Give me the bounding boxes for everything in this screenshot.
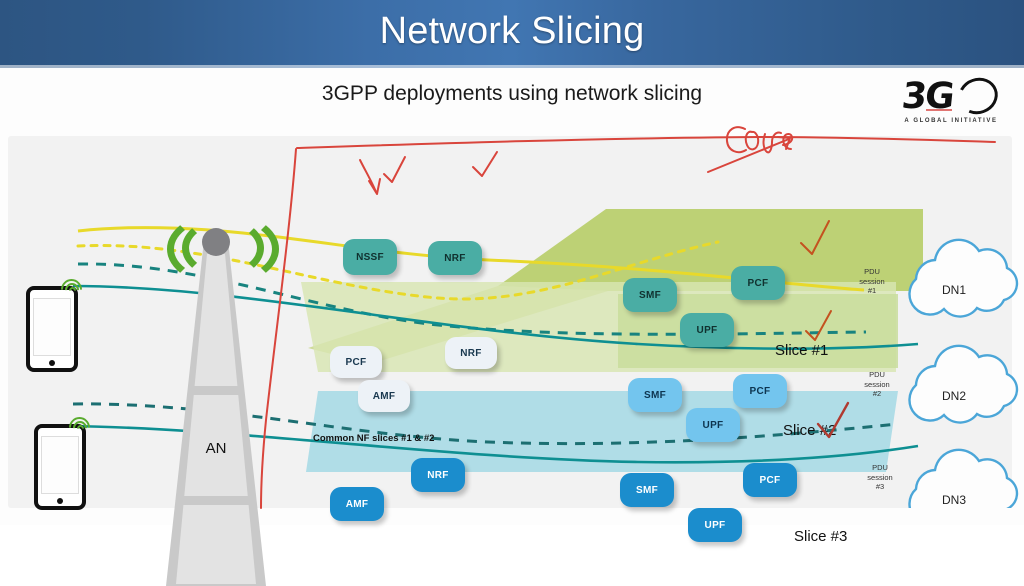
node-upf-slice3[interactable]: UPF (688, 508, 742, 542)
node-upf-slice1-label: UPF (697, 325, 718, 336)
pdu-session-2-line2: session (853, 380, 901, 390)
slide-root: Network Slicing 3GPP deployments using n… (0, 0, 1024, 525)
node-amf-common-label: AMF (373, 391, 396, 402)
dn3-label: DN3 (906, 474, 1002, 526)
slide-title-bar: Network Slicing (0, 0, 1024, 68)
node-upf-slice3-label: UPF (705, 520, 726, 531)
node-smf-slice3[interactable]: SMF (620, 473, 674, 507)
node-pcf-slice1[interactable]: PCF (731, 266, 785, 300)
page-title: Network Slicing (0, 0, 1024, 62)
tower-band-upper (192, 386, 240, 395)
logo-swoosh-icon (953, 72, 1003, 120)
tower-inner (166, 254, 266, 584)
dn2-cloud: DN2 (906, 370, 1002, 422)
phone-2-screen (41, 436, 79, 494)
node-upf-slice2-label: UPF (703, 420, 724, 431)
node-nrf-slice3-label: NRF (427, 470, 448, 481)
slide-body: 3GPP deployments using network slicing 3… (0, 68, 1024, 525)
node-pcf-common[interactable]: PCF (330, 346, 382, 378)
pdu-session-3-label: PDU session #3 (856, 463, 904, 492)
pdu-session-1-line3: #1 (848, 286, 896, 296)
dn1-label: DN1 (906, 264, 1002, 316)
slice1-label: Slice #1 (775, 342, 828, 359)
node-amf-slice3-label: AMF (346, 499, 369, 510)
connection-lines-layer (8, 136, 1024, 508)
slide-subtitle: 3GPP deployments using network slicing (0, 82, 1024, 106)
phone-1-signal-icon (60, 276, 82, 296)
logo-tagline: A GLOBAL INITIATIVE (896, 118, 1006, 124)
node-nrf-slice3[interactable]: NRF (411, 458, 465, 492)
dn1-cloud: DN1 (906, 264, 1002, 316)
common-nf-label: Common NF slices #1 & #2 (313, 433, 434, 444)
node-nssf-label: NSSF (356, 252, 384, 263)
node-smf-slice2-label: SMF (644, 390, 666, 401)
node-pcf-common-label: PCF (346, 357, 367, 368)
slice-planes-layer (8, 136, 1024, 508)
node-pcf-slice3[interactable]: PCF (743, 463, 797, 497)
node-nrf-common[interactable]: NRF (445, 337, 497, 369)
pdu-session-2-label: PDU session #2 (853, 370, 901, 399)
pdu-session-3-line2: session (856, 473, 904, 483)
tower-label: AN (166, 440, 266, 457)
tower-antenna-dot (202, 228, 230, 256)
phone-1-home-button (49, 360, 55, 366)
node-pcf-slice3-label: PCF (760, 475, 781, 486)
3gpp-logo: 3G A GLOBAL INITIATIVE (896, 76, 1006, 132)
node-smf-slice1[interactable]: SMF (623, 278, 677, 312)
dn3-cloud: DN3 (906, 474, 1002, 526)
node-smf-slice2[interactable]: SMF (628, 378, 682, 412)
node-upf-slice2[interactable]: UPF (686, 408, 740, 442)
slice2-label: Slice #2 (783, 422, 836, 439)
node-amf-slice3[interactable]: AMF (330, 487, 384, 521)
node-smf-slice1-label: SMF (639, 290, 661, 301)
pdu-session-1-line2: session (848, 277, 896, 287)
tower-band-lower (180, 496, 252, 505)
node-amf-common[interactable]: AMF (358, 380, 410, 412)
pdu-session-3-line1: PDU (856, 463, 904, 473)
dn-clouds-layer (8, 136, 1024, 508)
phone-2-home-button (57, 498, 63, 504)
pdu-session-2-line3: #2 (853, 389, 901, 399)
node-nssf[interactable]: NSSF (343, 239, 397, 275)
node-pcf-slice1-label: PCF (748, 278, 769, 289)
phone-2-signal-icon (68, 414, 90, 434)
pdu-session-1-line1: PDU (848, 267, 896, 277)
phone-1-screen (33, 298, 71, 356)
pdu-session-1-label: PDU session #1 (848, 267, 896, 296)
node-smf-slice3-label: SMF (636, 485, 658, 496)
node-nrf-top[interactable]: NRF (428, 241, 482, 275)
diagram-panel: AN NSSF NRF SMF PCF UPF Slice #1 PCF (8, 136, 1012, 508)
node-pcf-slice2-label: PCF (750, 386, 771, 397)
dn2-label: DN2 (906, 370, 1002, 422)
pdu-session-2-line1: PDU (853, 370, 901, 380)
logo-redline (926, 109, 952, 111)
node-pcf-slice2[interactable]: PCF (733, 374, 787, 408)
pdu-session-3-line3: #3 (856, 482, 904, 492)
node-nrf-top-label: NRF (444, 253, 465, 264)
access-network-tower: AN (166, 218, 266, 586)
node-upf-slice1[interactable]: UPF (680, 313, 734, 347)
slice3-label: Slice #3 (794, 528, 847, 545)
node-nrf-common-label: NRF (460, 348, 481, 359)
